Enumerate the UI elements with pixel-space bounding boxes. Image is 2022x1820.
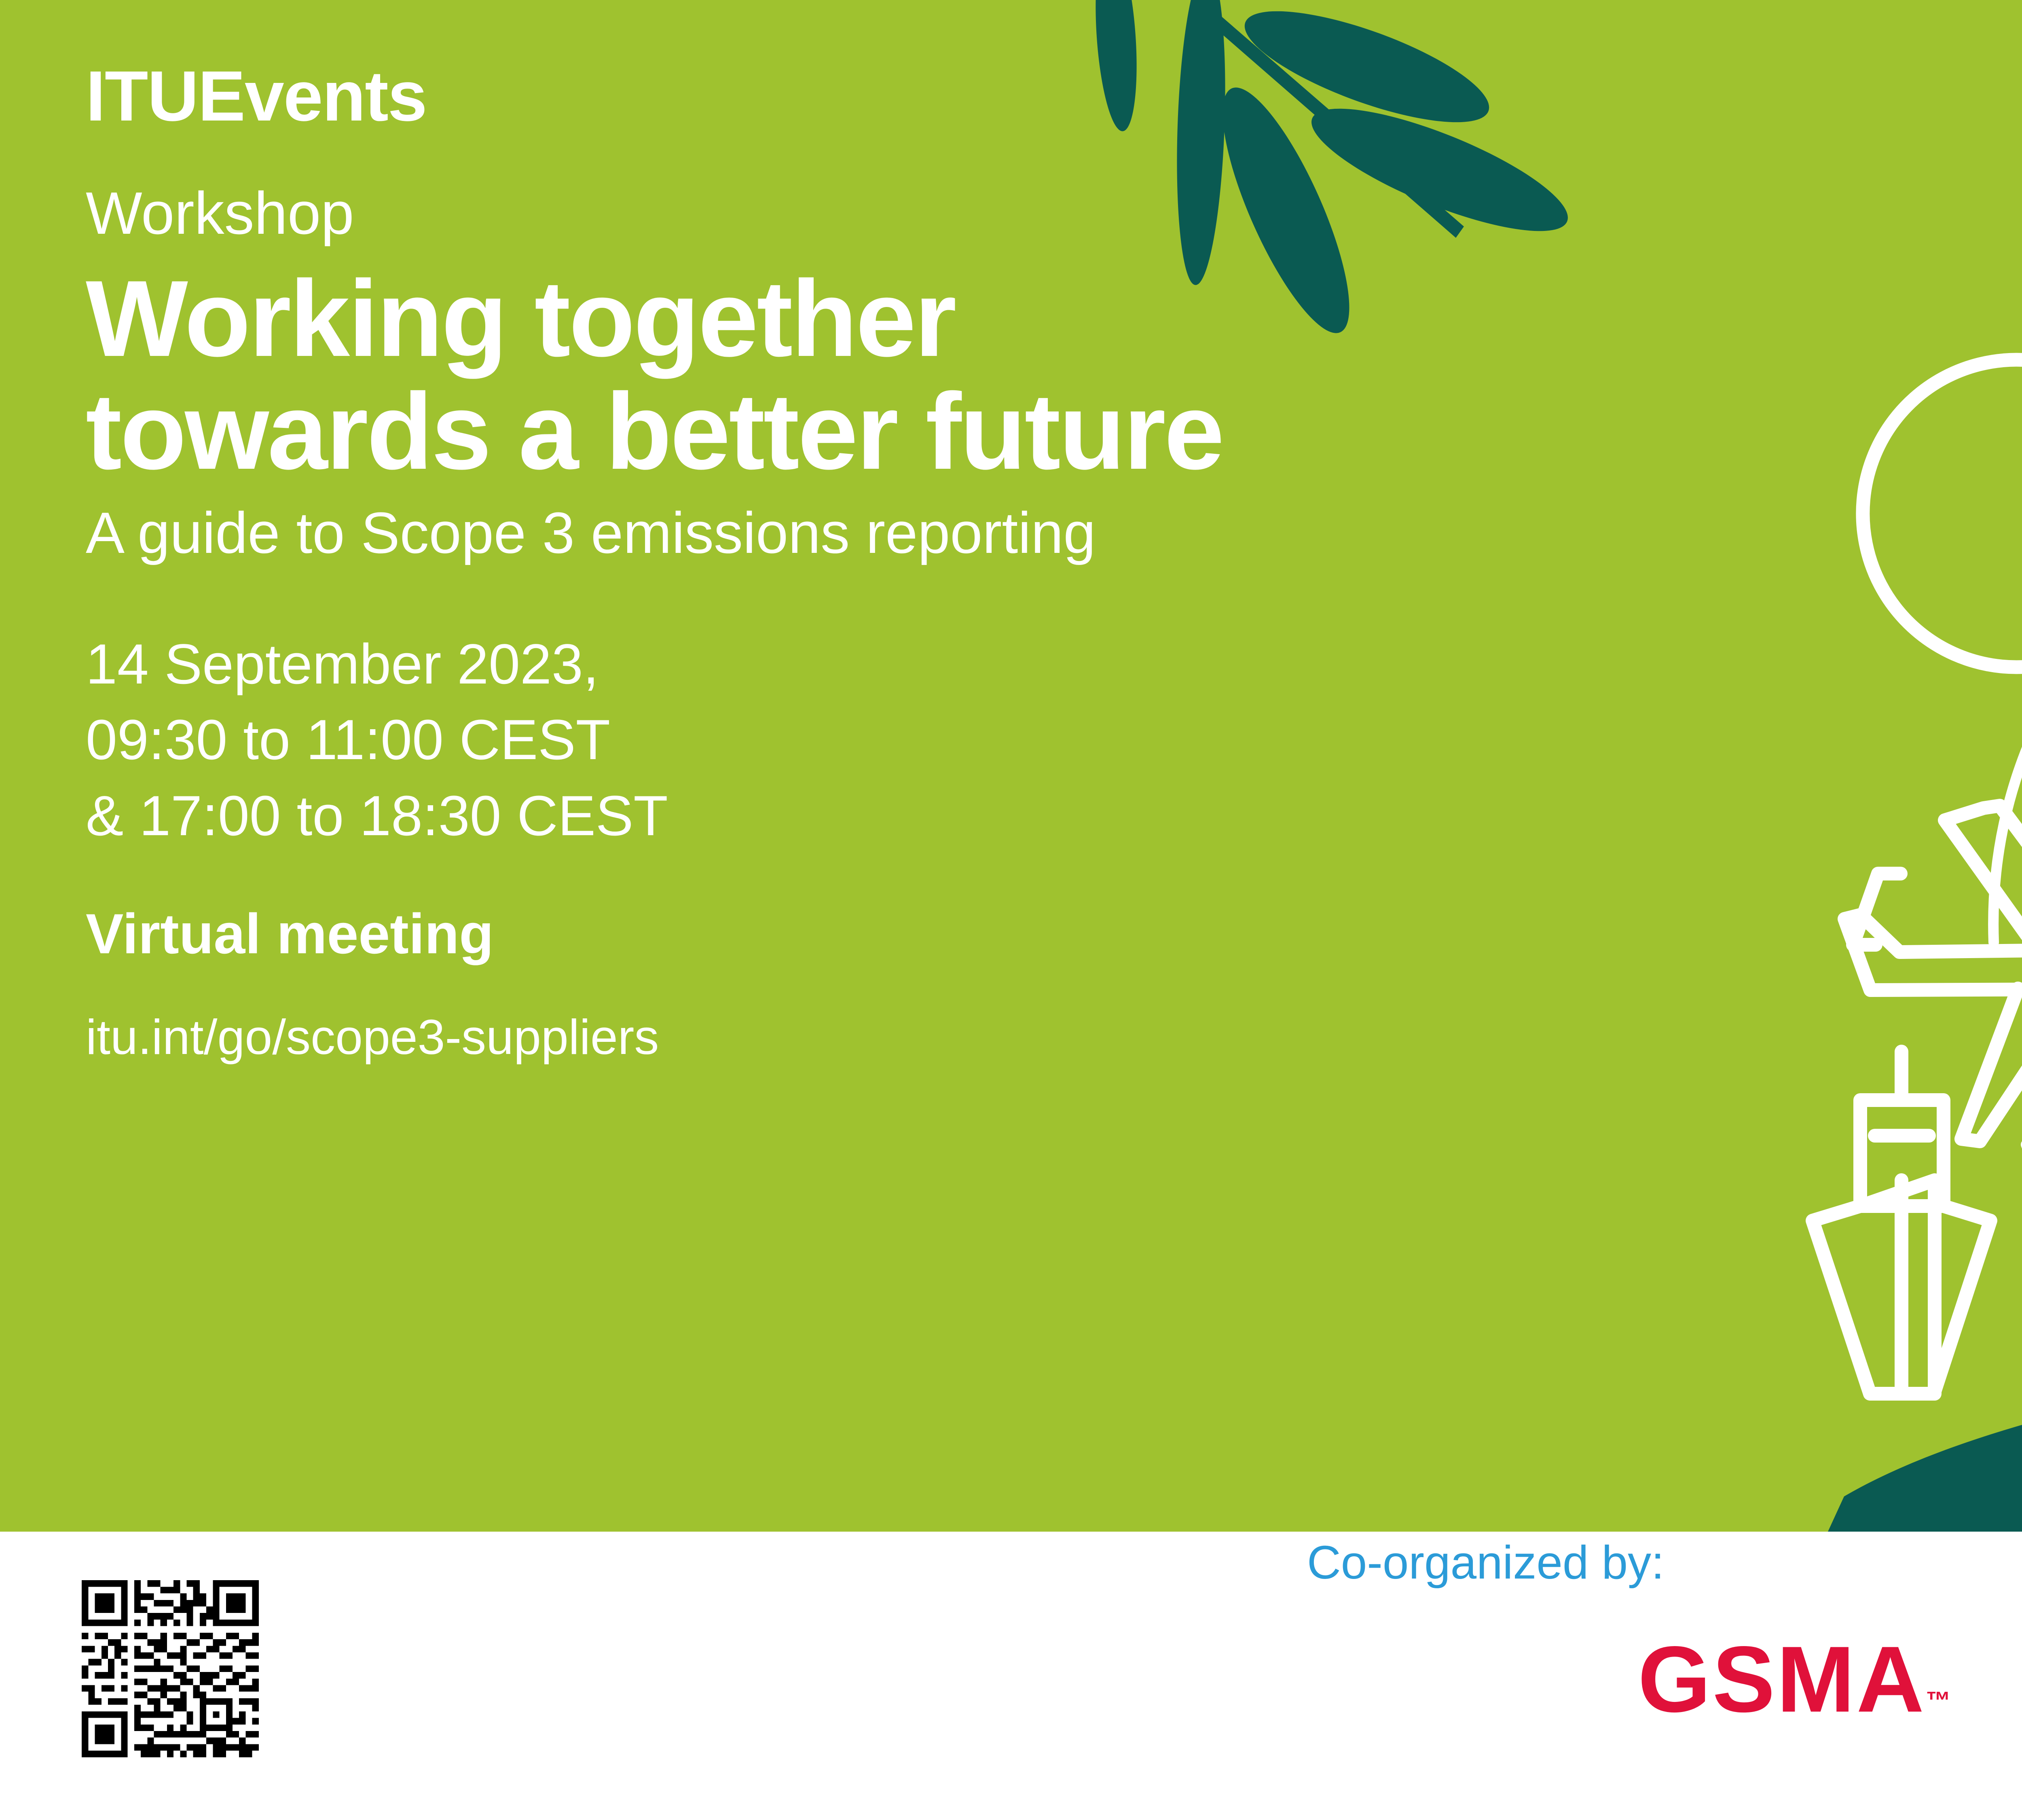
event-url[interactable]: itu.int/go/scope3-suppliers — [86, 1012, 1946, 1062]
gsma-wordmark: GSMA — [1638, 1627, 1926, 1732]
title-line-2: towards a better future — [86, 370, 1223, 492]
page-subtitle: A guide to Scope 3 emissions reporting — [86, 501, 1946, 565]
hero-section: ITUEvents Workshop Working together towa… — [0, 0, 2022, 1532]
event-type-label: Workshop — [86, 184, 1946, 243]
event-banner: ITUEvents Workshop Working together towa… — [0, 0, 2022, 1820]
hero-text-column: ITUEvents Workshop Working together towa… — [86, 61, 1946, 1062]
trademark-icon: ™ — [1926, 1687, 1951, 1715]
gsma-logo: GSMA™ — [1638, 1633, 1951, 1727]
date-line-1: 14 September 2023, — [86, 632, 599, 696]
event-datetime: 14 September 2023, 09:30 to 11:00 CEST &… — [86, 626, 1946, 854]
date-line-2: 09:30 to 11:00 CEST — [86, 708, 610, 771]
event-venue: Virtual meeting — [86, 906, 1946, 962]
qr-code[interactable] — [75, 1574, 265, 1764]
itu-events-logo: ITUEvents — [86, 61, 1946, 132]
brand-secondary: Events — [198, 57, 427, 136]
page-title: Working together towards a better future — [86, 262, 1946, 487]
co-organized-label: Co-organized by: — [1307, 1539, 1664, 1586]
date-line-3: & 17:00 to 18:30 CEST — [86, 784, 668, 847]
title-line-1: Working together — [86, 258, 955, 379]
brand-primary: ITU — [86, 57, 198, 136]
partner-logos: GSMA™ — [1638, 1592, 2022, 1803]
footer-bar: Co-organized by: GSMA™ — [0, 1532, 2022, 1820]
